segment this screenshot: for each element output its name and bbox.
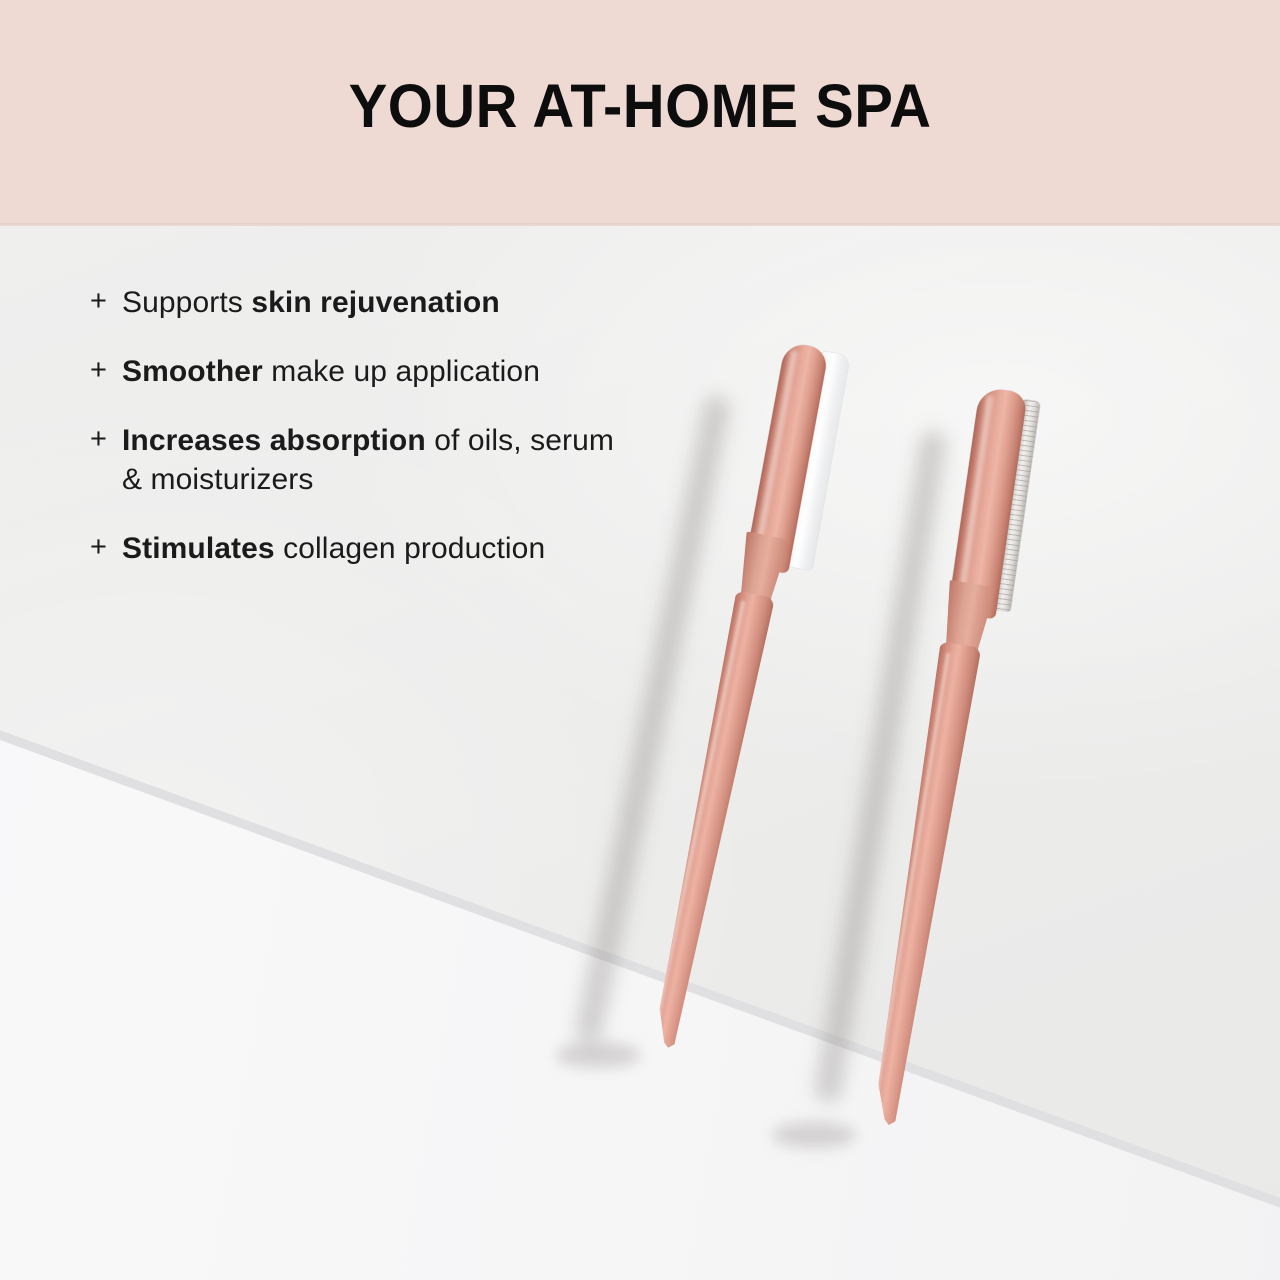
page-title: YOUR AT-HOME SPA bbox=[32, 74, 1248, 138]
benefit-4-seg-1: collagen production bbox=[275, 532, 546, 565]
product-benefits-poster: YOUR AT-HOME SPA + Supports skin rejuven… bbox=[0, 0, 1280, 1280]
benefits-list: + Supports skin rejuvenation + Smoother … bbox=[90, 283, 750, 568]
benefit-3-seg-1: of oils, serum bbox=[426, 424, 614, 457]
benefit-3-seg-2: & moisturizers bbox=[122, 463, 313, 496]
razor-right-handle bbox=[862, 641, 981, 1127]
plus-icon: + bbox=[90, 283, 122, 321]
benefit-4-seg-0: Stimulates bbox=[122, 532, 275, 565]
benefit-item-4: + Stimulates collagen production bbox=[90, 529, 750, 568]
plus-icon: + bbox=[90, 352, 122, 390]
plus-icon: + bbox=[90, 421, 122, 459]
header-band: YOUR AT-HOME SPA bbox=[0, 0, 1280, 226]
benefit-text-1: Supports skin rejuvenation bbox=[122, 283, 750, 322]
benefit-item-2: + Smoother make up application bbox=[90, 352, 750, 391]
benefit-text-3: Increases absorption of oils, serum & mo… bbox=[122, 421, 750, 499]
benefit-text-2: Smoother make up application bbox=[122, 352, 750, 391]
benefit-2-seg-0: Smoother bbox=[122, 355, 263, 388]
benefit-item-3: + Increases absorption of oils, serum & … bbox=[90, 421, 750, 499]
benefit-2-seg-1: make up application bbox=[263, 355, 540, 388]
plus-icon: + bbox=[90, 529, 122, 567]
benefit-text-4: Stimulates collagen production bbox=[122, 529, 750, 568]
benefit-1-seg-1: skin rejuvenation bbox=[251, 286, 499, 319]
benefit-item-1: + Supports skin rejuvenation bbox=[90, 283, 750, 322]
benefit-3-seg-0: Increases absorption bbox=[122, 424, 426, 457]
benefit-1-seg-0: Supports bbox=[122, 286, 251, 319]
